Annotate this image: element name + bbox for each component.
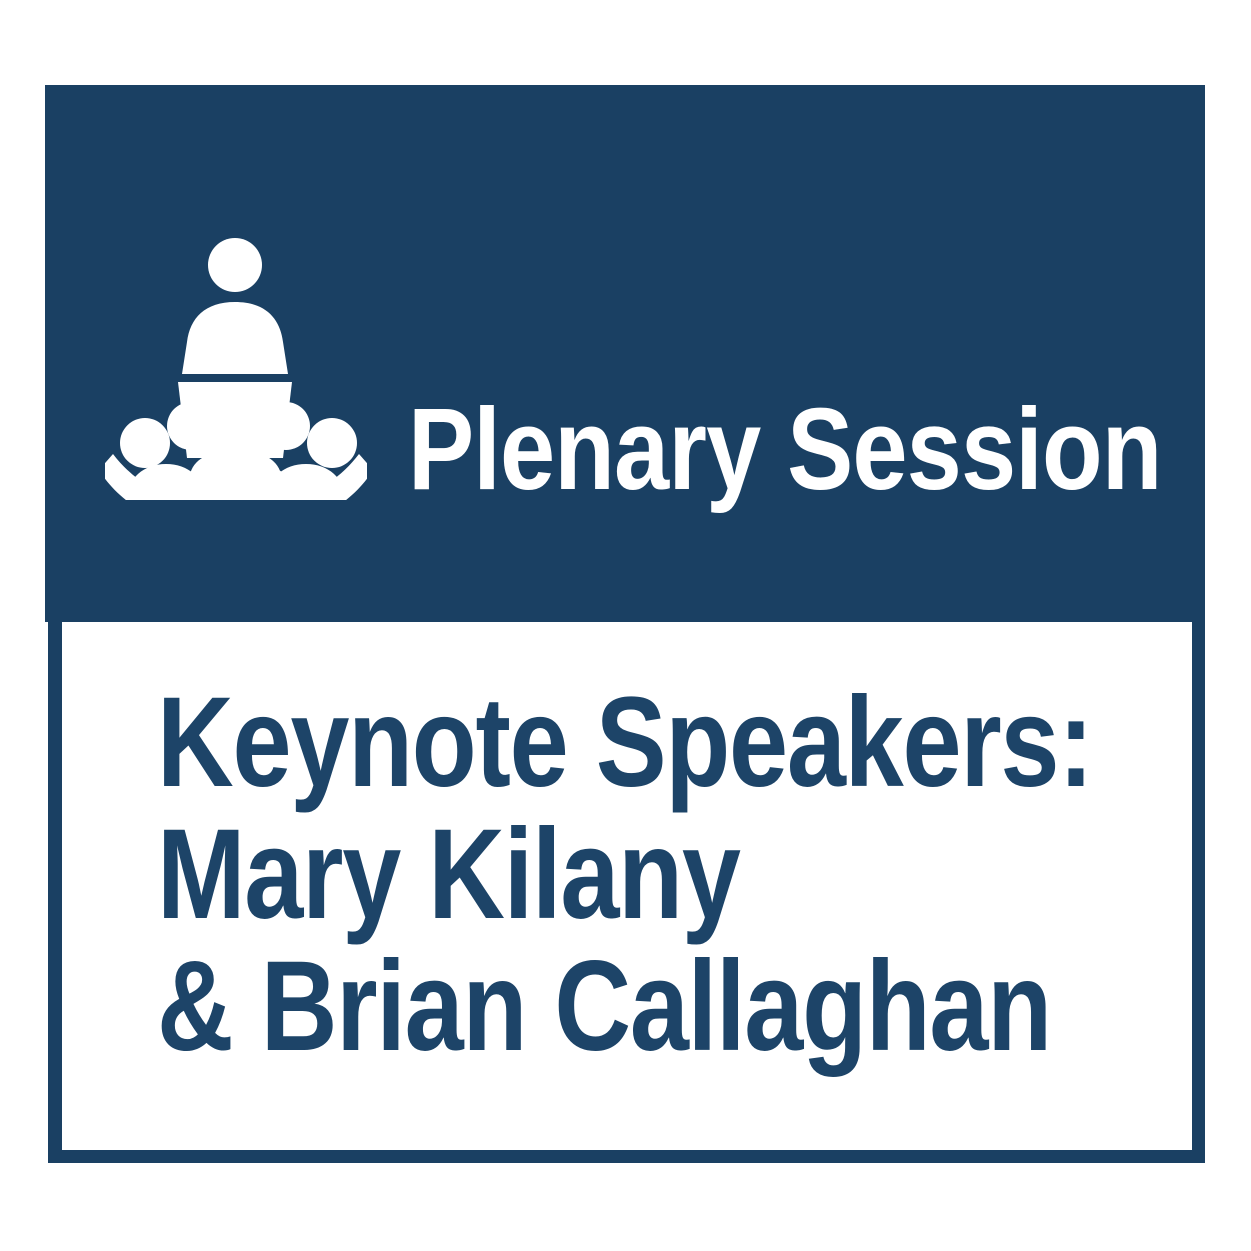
keynote-speakers-label: Keynote Speakers: [157,677,970,809]
keynote-speakers-block: Keynote Speakers: Mary Kilany & Brian Ca… [157,677,1137,1073]
plenary-session-card: Plenary Session Keynote Speakers: Mary K… [45,85,1205,1163]
plenary-session-icon [105,230,367,500]
keynote-speaker-two: & Brian Callaghan [157,941,970,1073]
page-title: Plenary Session [408,391,1058,507]
card-header-band: Plenary Session [45,85,1205,622]
card-body-panel: Keynote Speakers: Mary Kilany & Brian Ca… [48,622,1205,1163]
keynote-speaker-one: Mary Kilany [157,809,970,941]
